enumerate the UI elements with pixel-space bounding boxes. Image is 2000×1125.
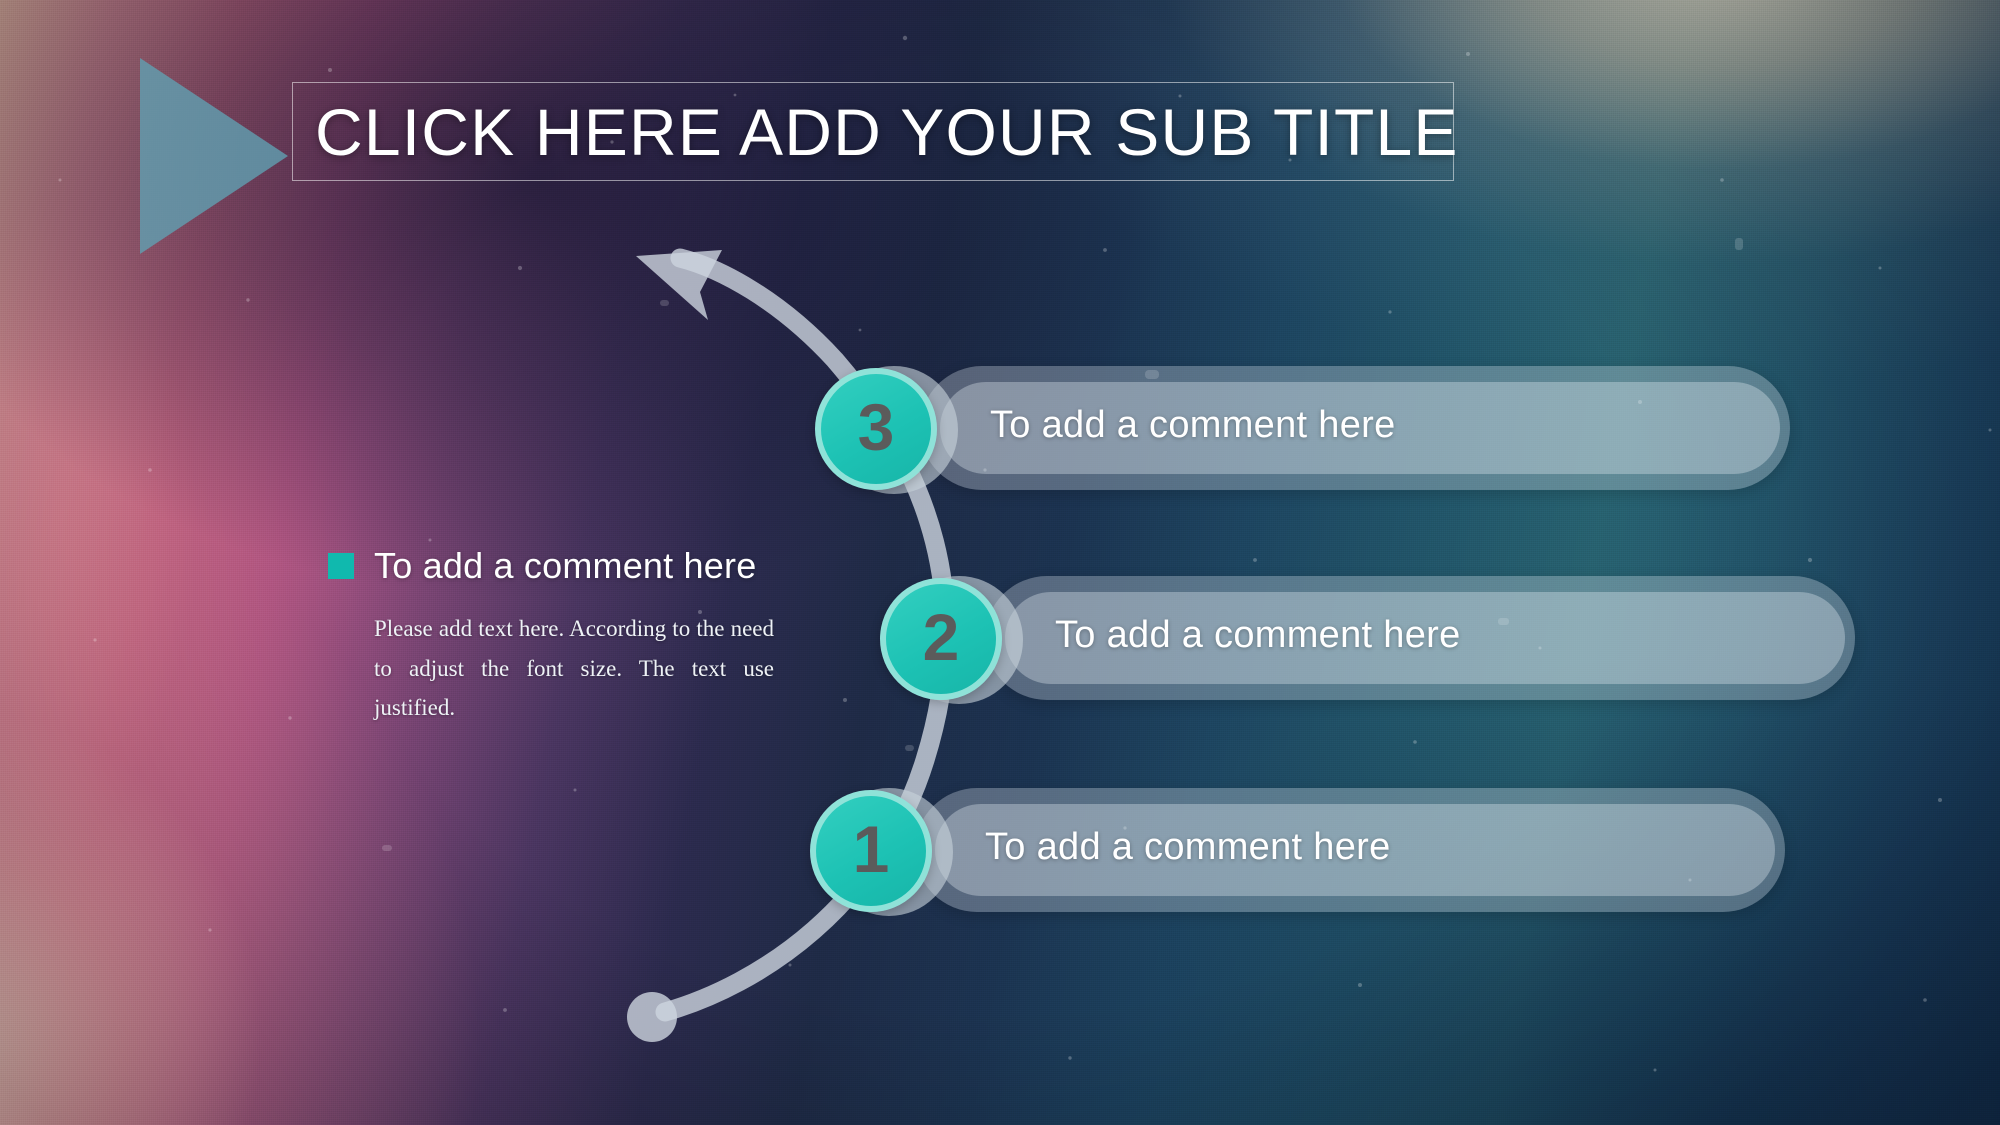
side-note-body: Please add text here. According to the n… [374, 609, 774, 728]
step-circle-2[interactable]: 2 [880, 578, 1002, 700]
side-note-heading-row: To add a comment here [328, 545, 774, 587]
step-circle-1[interactable]: 1 [810, 790, 932, 912]
curved-arrow-icon [0, 0, 2000, 1125]
path-end-dot-icon [627, 992, 677, 1042]
side-note-block[interactable]: To add a comment here Please add text he… [328, 545, 774, 728]
step-number-1: 1 [853, 816, 890, 882]
step-circle-3[interactable]: 3 [815, 368, 937, 490]
step-label-3: To add a comment here [990, 404, 1396, 447]
arrow-head-icon [636, 250, 722, 320]
side-note-heading: To add a comment here [374, 545, 756, 587]
presentation-slide: CLICK HERE ADD YOUR SUB TITLE To add a c… [0, 0, 2000, 1125]
step-number-3: 3 [858, 394, 895, 460]
bullet-square-icon [328, 553, 354, 579]
step-label-2: To add a comment here [1055, 614, 1461, 657]
step-label-1: To add a comment here [985, 826, 1391, 869]
step-number-2: 2 [923, 604, 960, 670]
